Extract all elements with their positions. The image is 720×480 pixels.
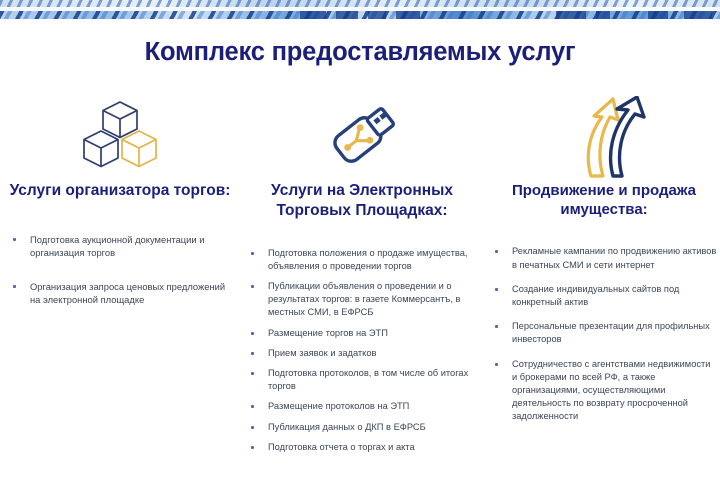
- banner-tile: [556, 11, 586, 19]
- banner-tile: [300, 11, 326, 19]
- services-list: Подготовка аукционной документации и орг…: [8, 233, 232, 306]
- banner-tile: [336, 11, 358, 19]
- decorative-top-banner: [0, 0, 720, 19]
- column-heading: Услуги организатора торгов:: [8, 181, 232, 201]
- list-item: Персональные презентации для профильных …: [490, 320, 718, 346]
- usb-flash-drive-icon: [246, 96, 478, 174]
- list-item: Подготовка протоколов, в том числе об ит…: [246, 367, 478, 393]
- column-heading: Продвижение и продажа имущества:: [490, 181, 718, 219]
- list-item: Рекламные кампании по продвижению активо…: [490, 245, 718, 271]
- list-item: Прием заявок и задатков: [246, 347, 478, 360]
- slide-title: Комплекс предоставляемых услуг: [0, 38, 720, 67]
- services-column-promotion: Продвижение и продажа имущества: Рекламн…: [484, 96, 720, 434]
- three-cubes-icon: [8, 96, 232, 174]
- list-item: Размещение торгов на ЭТП: [246, 327, 478, 340]
- banner-tile: [648, 11, 668, 19]
- services-columns: Услуги организатора торгов: Подготовка а…: [0, 96, 720, 461]
- list-item: Публикация данных о ДКП в ЕФРСБ: [246, 421, 478, 434]
- services-list: Подготовка положения о продаже имущества…: [246, 247, 478, 454]
- banner-band-lower: [0, 11, 720, 19]
- growth-arrows-icon: [490, 96, 718, 174]
- list-item: Создание индивидуальных сайтов под конкр…: [490, 283, 718, 309]
- column-heading: Услуги на Электронных Торговых Площадках…: [246, 181, 478, 221]
- banner-band-upper: [0, 0, 720, 7]
- banner-tile: [368, 11, 386, 19]
- list-item: Подготовка отчета о торгах и акта: [246, 441, 478, 454]
- list-item: Публикации объявления о проведении и о р…: [246, 280, 478, 320]
- list-item: Подготовка аукционной документации и орг…: [8, 233, 232, 260]
- services-column-etp: Услуги на Электронных Торговых Площадках…: [240, 96, 484, 461]
- services-column-organizer: Услуги организатора торгов: Подготовка а…: [0, 96, 240, 326]
- services-list: Рекламные кампании по продвижению активо…: [490, 245, 718, 423]
- list-item: Размещение протоколов на ЭТП: [246, 400, 478, 413]
- list-item: Организация запроса ценовых предложений …: [8, 280, 232, 307]
- list-item: Подготовка положения о продаже имущества…: [246, 247, 478, 273]
- list-item: Сотрудничество с агентствами недвижимост…: [490, 358, 718, 424]
- banner-tile: [396, 11, 420, 19]
- banner-tile: [684, 11, 712, 19]
- banner-tile: [596, 11, 610, 19]
